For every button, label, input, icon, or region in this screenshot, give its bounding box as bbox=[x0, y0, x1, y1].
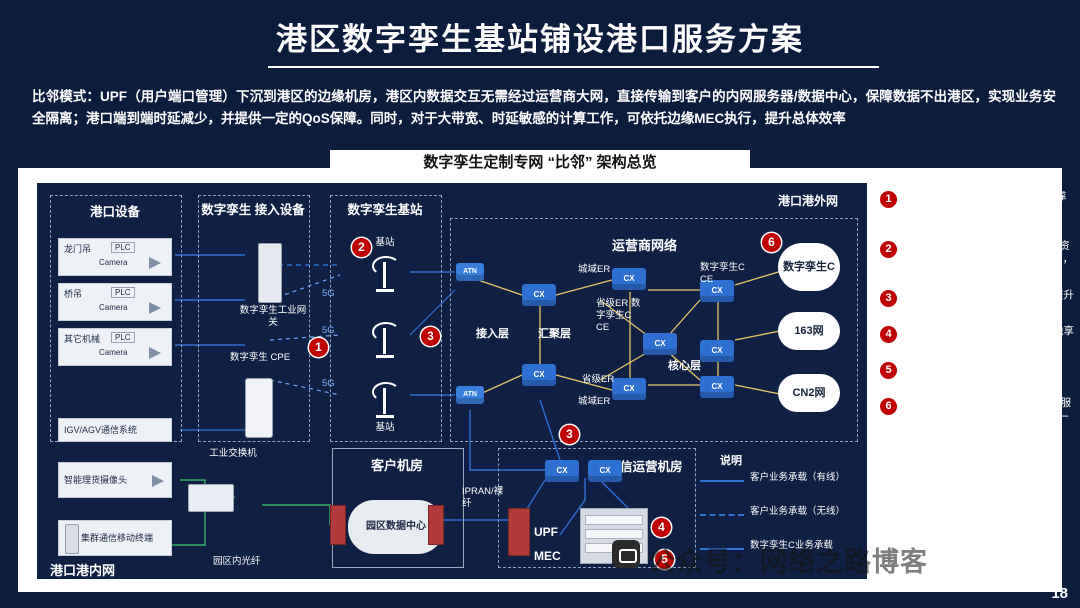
equipment-name-3: IGV/AGV通信系统 bbox=[64, 423, 137, 436]
equipment-name-5: 集群通信移动终端 bbox=[81, 531, 153, 544]
cpe-icon bbox=[245, 378, 273, 438]
marker-4: 4 bbox=[652, 518, 671, 537]
base-station-label-top: 基站 bbox=[330, 237, 440, 249]
router-atn-1: ATN bbox=[456, 263, 484, 281]
group-port-equipment-title: 港口设备 bbox=[50, 205, 180, 220]
router-note-1: 省级ER 数字孪生C CE bbox=[596, 298, 644, 334]
equipment-card-0: 龙门吊 PLC Camera bbox=[58, 238, 172, 276]
layer-label-core: 核心层 bbox=[668, 360, 701, 372]
marker-6: 6 bbox=[762, 233, 781, 252]
cloud-cn2: CN2网 bbox=[778, 374, 840, 412]
group-dt-access-title: 数字孪生 接入设备 bbox=[198, 203, 308, 218]
router-cx-4: CX bbox=[612, 378, 646, 400]
equipment-card-3: IGV/AGV通信系统 bbox=[58, 418, 172, 442]
right-note-num-2: 3 bbox=[880, 290, 897, 307]
right-note-0: 1 可提供数字孪生双发选收提 高可靠性并降低切换 时延 *当前华为终端支持 bbox=[880, 190, 1076, 231]
group-dt-base-station-title: 数字孪生基站 bbox=[330, 203, 440, 218]
camera-icon bbox=[152, 475, 164, 487]
watermark-text: 公众号：网络之路博客 bbox=[648, 540, 928, 579]
firewall-icon-left bbox=[330, 505, 346, 545]
camera-icon bbox=[149, 347, 161, 359]
marker-3b: 3 bbox=[560, 425, 579, 444]
router-note-4: 城域ER bbox=[578, 396, 610, 408]
router-cx-2: CX bbox=[522, 364, 556, 386]
fiber-label: 园区内光纤 bbox=[213, 556, 323, 568]
handset-icon bbox=[65, 524, 79, 554]
marker-3a: 3 bbox=[421, 327, 440, 346]
diagram-banner-title: 数字孪生定制专网 “比邻” 架构总览 bbox=[330, 150, 750, 176]
legend-item-1: 客户业务承载（无线） bbox=[750, 506, 858, 518]
right-note-text-4: 可提供企业专用MEC支持流量管理、安全和业应用部署平台 bbox=[906, 361, 1076, 388]
equipment-tag-0-plc: PLC bbox=[111, 242, 135, 253]
router-atn-2: ATN bbox=[456, 386, 484, 404]
equipment-card-2: 其它机械 PLC Camera bbox=[58, 328, 172, 366]
watermark-logo-icon bbox=[612, 540, 640, 568]
page-title: 港区数字孪生基站铺设港口服务方案 bbox=[0, 22, 1080, 58]
equipment-tag-1-camera: Camera bbox=[99, 303, 127, 312]
group-customer-room-title: 客户机房 bbox=[332, 458, 462, 473]
router-note-0: 城域ER bbox=[578, 264, 610, 276]
right-note-2: 3 可提供基站和机房双链路备份，提升定制网系统链路可靠性 bbox=[880, 289, 1076, 316]
right-note-1: 2 可提供增强无线（ “QoS调度+RB资源预留+超级上行”）提升用户接入，上行… bbox=[880, 240, 1076, 281]
router-note-3: 省级ER bbox=[582, 374, 614, 386]
right-note-text-2: 可提供基站和机房双链路备份，提升定制网系统链路可靠性 bbox=[906, 289, 1076, 316]
layer-label-aggregation: 汇聚层 bbox=[538, 328, 571, 340]
router-cx-6: CX bbox=[700, 340, 734, 362]
industrial-gateway-icon bbox=[258, 243, 282, 303]
equipment-card-1: 桥吊 PLC Camera bbox=[58, 283, 172, 321]
right-note-num-4: 5 bbox=[880, 362, 897, 379]
right-notes-list: 1 可提供数字孪生双发选收提 高可靠性并降低切换 时延 *当前华为终端支持 2 … bbox=[880, 190, 1076, 447]
radio-label-2: 5G bbox=[322, 378, 335, 390]
right-note-4: 5 可提供企业专用MEC支持流量管理、安全和业应用部署平台 bbox=[880, 361, 1076, 388]
equipment-card-5: 集群通信移动终端 bbox=[58, 520, 172, 556]
page-number: 18 bbox=[1051, 585, 1068, 602]
legend-item-0: 客户业务承载（有线） bbox=[750, 472, 858, 484]
router-telecom-1: CX bbox=[545, 460, 579, 482]
firewall-icon-right bbox=[428, 505, 444, 545]
router-cx-3: CX bbox=[612, 268, 646, 290]
zone-label-port-intranet: 港口港内网 bbox=[50, 560, 115, 579]
zone-label-port-extranet: 港口港外网 bbox=[778, 192, 838, 209]
tower-icon-3 bbox=[368, 378, 402, 418]
camera-icon bbox=[149, 302, 161, 314]
cpe-label: 数字孪生 CPE bbox=[228, 352, 292, 364]
marker-1: 1 bbox=[309, 338, 328, 357]
radio-label-1: 5G bbox=[322, 325, 335, 337]
right-note-3: 4 可提供企业专用UPF出口，提供独享数据通道，保障数据安全 bbox=[880, 325, 1076, 352]
marker-2: 2 bbox=[352, 238, 371, 257]
camera-icon bbox=[149, 257, 161, 269]
radio-label-0: 5G bbox=[322, 288, 335, 300]
right-note-num-0: 1 bbox=[880, 191, 897, 208]
router-telecom-2: CX bbox=[588, 460, 622, 482]
equipment-name-0: 龙门吊 bbox=[64, 242, 91, 255]
upf-label: UPF bbox=[534, 526, 558, 538]
equipment-name-2: 其它机械 bbox=[64, 332, 100, 345]
equipment-tag-2-plc: PLC bbox=[111, 332, 135, 343]
right-note-num-5: 6 bbox=[880, 398, 897, 415]
equipment-name-4: 智能理货摄像头 bbox=[64, 473, 127, 486]
slide: 港区数字孪生基站铺设港口服务方案 比邻模式：UPF（用户端口管理）下沉到港区的边… bbox=[0, 0, 1080, 608]
right-note-num-1: 2 bbox=[880, 241, 897, 258]
router-note-2: 数字孪生C CE bbox=[700, 262, 752, 286]
industrial-switch-label: 工业交换机 bbox=[206, 448, 260, 460]
industrial-switch-icon bbox=[188, 484, 234, 512]
router-cx-7: CX bbox=[700, 376, 734, 398]
upf-device-icon bbox=[508, 508, 530, 556]
base-station-label-bottom: 基站 bbox=[330, 422, 440, 434]
equipment-name-1: 桥吊 bbox=[64, 287, 82, 300]
equipment-tag-1-plc: PLC bbox=[111, 287, 135, 298]
title-underline bbox=[268, 66, 879, 68]
right-note-text-0: 可提供数字孪生双发选收提 高可靠性并降低切换 时延 *当前华为终端支持 bbox=[906, 190, 1076, 231]
right-note-text-5: 由大网数字孪生C负责管理和路控服务，提供4/5/2孪生工业数据/云端一号网络能力 bbox=[906, 397, 1076, 438]
layer-label-access: 接入层 bbox=[476, 328, 509, 340]
mec-label: MEC bbox=[534, 550, 561, 562]
right-note-text-3: 可提供企业专用UPF出口，提供独享数据通道，保障数据安全 bbox=[906, 325, 1076, 352]
router-cx-1: CX bbox=[522, 284, 556, 306]
industrial-gateway-label: 数字孪生工业网关 bbox=[238, 305, 308, 329]
right-note-5: 6 由大网数字孪生C负责管理和路控服务，提供4/5/2孪生工业数据/云端一号网络… bbox=[880, 397, 1076, 438]
tower-icon-2 bbox=[368, 318, 402, 358]
router-cx-8: CX bbox=[643, 333, 677, 355]
intro-paragraph: 比邻模式：UPF（用户端口管理）下沉到港区的边缘机房，港区内数据交互无需经过运营… bbox=[32, 86, 1056, 130]
right-note-text-1: 可提供增强无线（ “QoS调度+RB资源预留+超级上行”）提升用户接入，上行容量… bbox=[906, 240, 1076, 281]
legend-title: 说明 bbox=[720, 452, 742, 468]
cloud-163: 163网 bbox=[778, 312, 840, 350]
tower-icon-1 bbox=[368, 252, 402, 292]
equipment-tag-0-camera: Camera bbox=[99, 258, 127, 267]
cloud-dt-c: 数字孪生C bbox=[778, 243, 840, 291]
equipment-card-4: 智能理货摄像头 bbox=[58, 462, 172, 498]
right-note-num-3: 4 bbox=[880, 326, 897, 343]
equipment-tag-2-camera: Camera bbox=[99, 348, 127, 357]
